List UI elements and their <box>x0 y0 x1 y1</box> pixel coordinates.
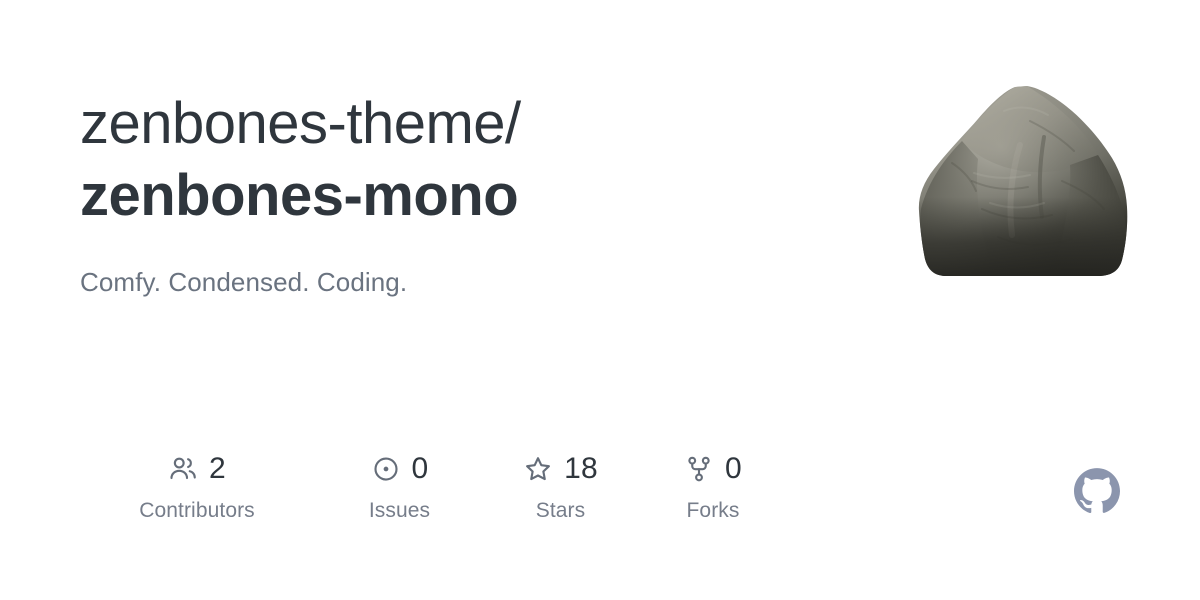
repository-name: zenbones-mono <box>80 160 780 232</box>
stat-issues-value: 0 <box>412 454 429 484</box>
repository-title-block: zenbones-theme/ zenbones-mono <box>80 88 780 232</box>
stat-forks: 0 Forks <box>638 450 788 523</box>
repository-owner: zenbones-theme/ <box>80 88 780 160</box>
repository-stats: 2 Contributors 0 Issues <box>78 450 788 523</box>
github-mark-icon <box>1074 467 1120 513</box>
stat-stars-value: 18 <box>564 454 598 484</box>
stat-issues-value-row: 0 <box>371 450 429 488</box>
stat-forks-value-row: 0 <box>684 450 742 488</box>
issue-icon <box>371 454 401 484</box>
stat-contributors-label: Contributors <box>139 499 255 523</box>
fork-icon <box>684 454 714 484</box>
people-icon <box>168 454 198 484</box>
stat-contributors-value: 2 <box>209 454 226 484</box>
stat-stars-label: Stars <box>536 499 586 523</box>
stat-contributors-value-row: 2 <box>168 450 226 488</box>
page-title: zenbones-theme/ zenbones-mono <box>80 88 780 232</box>
stat-stars: 18 Stars <box>483 450 638 523</box>
stat-stars-value-row: 18 <box>523 450 598 488</box>
stat-forks-label: Forks <box>687 499 740 523</box>
stat-contributors: 2 Contributors <box>78 450 316 523</box>
stat-forks-value: 0 <box>725 454 742 484</box>
rock-illustration <box>912 85 1136 280</box>
repository-social-card: zenbones-theme/ zenbones-mono Comfy. Con… <box>0 0 1200 600</box>
stat-issues: 0 Issues <box>316 450 483 523</box>
repository-description: Comfy. Condensed. Coding. <box>80 265 407 299</box>
star-icon <box>523 454 553 484</box>
stat-issues-label: Issues <box>369 499 430 523</box>
